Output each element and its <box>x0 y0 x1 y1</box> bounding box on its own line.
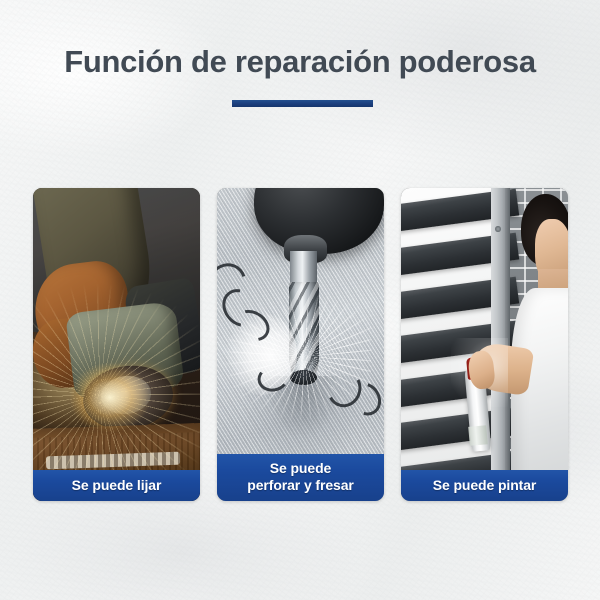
promo-banner: Función de reparación poderosa <box>0 0 600 600</box>
photo-angle-grinder <box>33 188 200 501</box>
feature-panel-drilling[interactable]: Se puede perforar y fresar <box>217 188 384 501</box>
feature-panel-painting[interactable]: Se puede pintar <box>401 188 568 501</box>
spray-can-label <box>468 425 488 445</box>
caption-badge-sanding: Se puede lijar <box>33 470 200 501</box>
feature-panel-sanding[interactable]: Se puede lijar <box>33 188 200 501</box>
feature-panel-row: Se puede lijar <box>33 188 568 501</box>
caption-line: Se puede lijar <box>37 477 196 493</box>
title-underline-rule <box>232 100 373 107</box>
caption-badge-drilling: Se puede perforar y fresar <box>217 454 384 501</box>
caption-line: Se puede <box>219 460 382 477</box>
caption-badge-painting: Se puede pintar <box>401 470 568 501</box>
spark-glow <box>70 363 150 432</box>
caption-line: perforar y fresar <box>219 477 382 494</box>
photo-spray-painting <box>401 188 568 501</box>
spark-streaks <box>33 188 200 501</box>
caption-line: Se puede pintar <box>405 477 564 493</box>
page-title: Función de reparación poderosa <box>0 44 600 80</box>
